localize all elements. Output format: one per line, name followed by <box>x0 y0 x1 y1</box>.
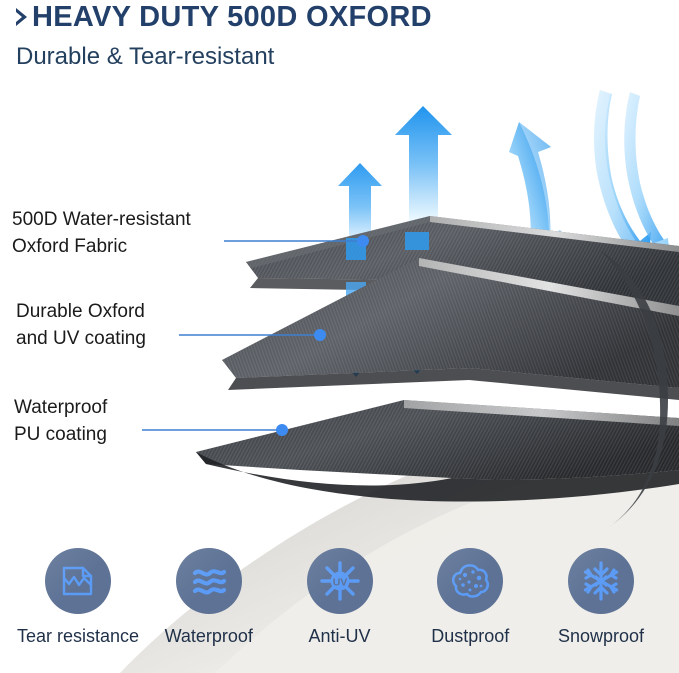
feature-tear-resistance: Tear resistance <box>16 548 140 647</box>
feature-waterproof: Waterproof <box>147 548 271 647</box>
torn-paper-icon <box>58 561 98 601</box>
chevron-right-icon <box>14 5 30 29</box>
feature-label: Waterproof <box>165 625 253 647</box>
page-subtitle: Durable & Tear-resistant <box>16 42 274 72</box>
callout-leader-pu <box>142 424 288 436</box>
feature-label: Tear resistance <box>17 625 139 647</box>
callout-line-2: Oxford Fabric <box>12 233 191 260</box>
feature-icon-circle <box>45 548 111 614</box>
arrow-up-large-icon <box>395 106 452 222</box>
fabric-layer-bottom <box>196 400 679 502</box>
callout-line-1: Waterproof <box>14 397 107 418</box>
callout-waterproof-pu-coating: Waterproof PU coating <box>14 394 107 448</box>
feature-icon-circle <box>437 548 503 614</box>
feature-snowproof: Snowproof <box>539 548 663 647</box>
feature-icon-circle: UV <box>307 548 373 614</box>
product-infographic: HEAVY DUTY 500D OXFORD Durable & Tear-re… <box>0 0 679 673</box>
callout-line-1: 500D Water-resistant <box>12 209 191 230</box>
feature-anti-uv: UV Anti-UV <box>278 548 402 647</box>
feature-label: Anti-UV <box>308 625 370 647</box>
callout-durable-uv-coating: Durable Oxford and UV coating <box>16 298 146 352</box>
uv-badge-text: UV <box>332 577 347 589</box>
callout-line-2: and UV coating <box>16 325 146 352</box>
water-waves-icon <box>189 561 229 601</box>
feature-dustproof: Dustproof <box>408 548 532 647</box>
feature-label: Snowproof <box>558 625 644 647</box>
callout-line-1: Durable Oxford <box>16 301 145 322</box>
feature-icon-circle <box>176 548 242 614</box>
callout-500d-oxford-fabric: 500D Water-resistant Oxford Fabric <box>12 206 191 260</box>
page-title: HEAVY DUTY 500D OXFORD <box>14 0 432 34</box>
dust-cloud-icon <box>449 561 491 601</box>
callout-line-2: PU coating <box>14 421 107 448</box>
feature-label: Dustproof <box>431 625 509 647</box>
feature-icon-circle <box>568 548 634 614</box>
page-title-text: HEAVY DUTY 500D OXFORD <box>32 0 432 34</box>
uv-sun-icon: UV <box>319 560 361 602</box>
feature-list: Tear resistance Waterproof <box>0 548 679 673</box>
snowflake-icon <box>580 560 622 602</box>
